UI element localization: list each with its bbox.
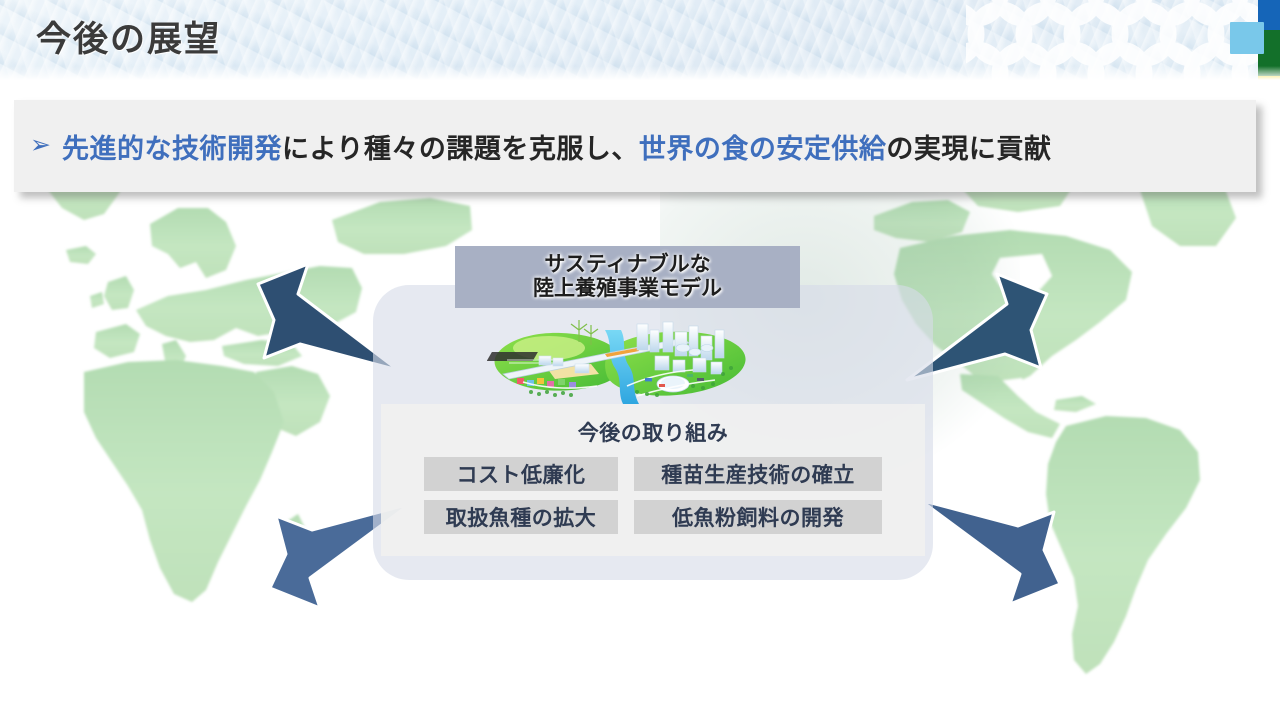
model-title-line1: サスティナブルな xyxy=(544,253,710,277)
banner-segment-4: の実現に貢献 xyxy=(886,134,1051,164)
banner-segment-3: 世界の食の安定供給 xyxy=(639,134,887,164)
task-tag-cost-reduction[interactable]: コスト低廉化 xyxy=(424,457,618,491)
banner-text: 先進的な技術開発により種々の課題を克服し、世界の食の安定供給の実現に貢献 xyxy=(62,127,1051,166)
task-tag-species-expansion[interactable]: 取扱魚種の拡大 xyxy=(424,500,618,534)
bullet-arrow-icon: ➢ xyxy=(30,132,51,157)
corner-block-cyan xyxy=(1230,22,1264,54)
model-title-line2: 陸上養殖事業モデル xyxy=(533,277,722,301)
page-title: 今後の展望 xyxy=(36,11,221,62)
task-tag-low-fishmeal-feed[interactable]: 低魚粉飼料の開発 xyxy=(634,500,882,534)
banner-segment-1: 先進的な技術開発 xyxy=(62,134,282,164)
banner-segment-2: により種々の課題を克服し、 xyxy=(282,134,639,164)
tasks-tag-row: コスト低廉化 種苗生産技術の確立 xyxy=(424,457,882,491)
model-title-box: サスティナブルな 陸上養殖事業モデル xyxy=(455,246,800,308)
arrow-bottom-right xyxy=(918,488,1078,608)
key-message-banner: ➢ 先進的な技術開発により種々の課題を克服し、世界の食の安定供給の実現に貢献 xyxy=(14,100,1256,192)
future-tasks-panel: 今後の取り組み コスト低廉化 種苗生産技術の確立 取扱魚種の拡大 低魚粉飼料の開… xyxy=(381,404,925,556)
slide-canvas: サスティナブルな 陸上養殖事業モデル xyxy=(0,0,1280,720)
smart-town-aquaculture-illustration xyxy=(487,312,755,412)
header-bottom-fade xyxy=(0,66,1280,80)
tasks-heading: 今後の取り組み xyxy=(381,404,925,447)
tasks-tag-row: 取扱魚種の拡大 低魚粉飼料の開発 xyxy=(424,500,882,534)
tasks-tag-grid: コスト低廉化 種苗生産技術の確立 取扱魚種の拡大 低魚粉飼料の開発 xyxy=(381,457,925,534)
task-tag-seedling-tech[interactable]: 種苗生産技術の確立 xyxy=(634,457,882,491)
slide-header: 今後の展望 xyxy=(0,0,1280,80)
banner-row: ➢ 先進的な技術開発により種々の課題を克服し、世界の食の安定供給の実現に貢献 xyxy=(14,100,1256,192)
